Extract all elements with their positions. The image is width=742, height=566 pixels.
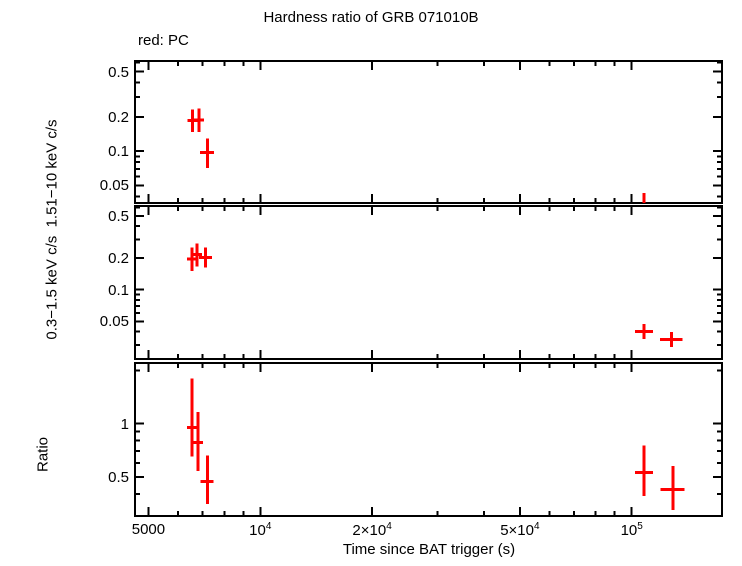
data-point-hard-band: [194, 108, 204, 131]
data-point-soft-band: [199, 248, 212, 268]
x-tick-label: 2×104: [327, 521, 417, 539]
data-point-soft-band: [192, 243, 202, 266]
y-tick-label-soft-band: 0.1: [108, 282, 129, 299]
data-point-ratio: [193, 412, 203, 471]
y-tick-label-ratio: 0.5: [108, 469, 129, 486]
y-tick-label-hard-band: 0.5: [108, 64, 129, 81]
y-tick-label-ratio: 1: [121, 416, 129, 433]
data-point-ratio: [635, 446, 653, 496]
x-tick-label: 104: [215, 521, 305, 539]
y-tick-label-soft-band: 0.05: [100, 313, 129, 330]
panel-frame-ratio: [135, 363, 722, 516]
y-tick-label-soft-band: 0.2: [108, 250, 129, 267]
y-tick-label-hard-band: 0.2: [108, 109, 129, 126]
data-point-soft-band: [660, 332, 683, 347]
data-point-ratio: [201, 455, 214, 504]
panel-frame-soft-band: [135, 206, 722, 359]
x-tick-label: 5000: [103, 521, 193, 538]
x-tick-label: 5×104: [475, 521, 565, 539]
data-point-hard-band: [200, 139, 214, 168]
y-tick-label-hard-band: 0.05: [100, 177, 129, 194]
hardness-ratio-figure: Hardness ratio of GRB 071010B red: PC Ti…: [0, 0, 742, 566]
y-tick-label-soft-band: 0.5: [108, 208, 129, 225]
x-tick-label: 105: [587, 521, 677, 539]
data-point-soft-band: [187, 247, 197, 271]
panel-frame-hard-band: [135, 61, 722, 203]
data-point-soft-band: [635, 324, 653, 339]
data-point-ratio: [660, 466, 684, 510]
y-tick-label-hard-band: 0.1: [108, 143, 129, 160]
data-point-ratio: [187, 378, 197, 456]
